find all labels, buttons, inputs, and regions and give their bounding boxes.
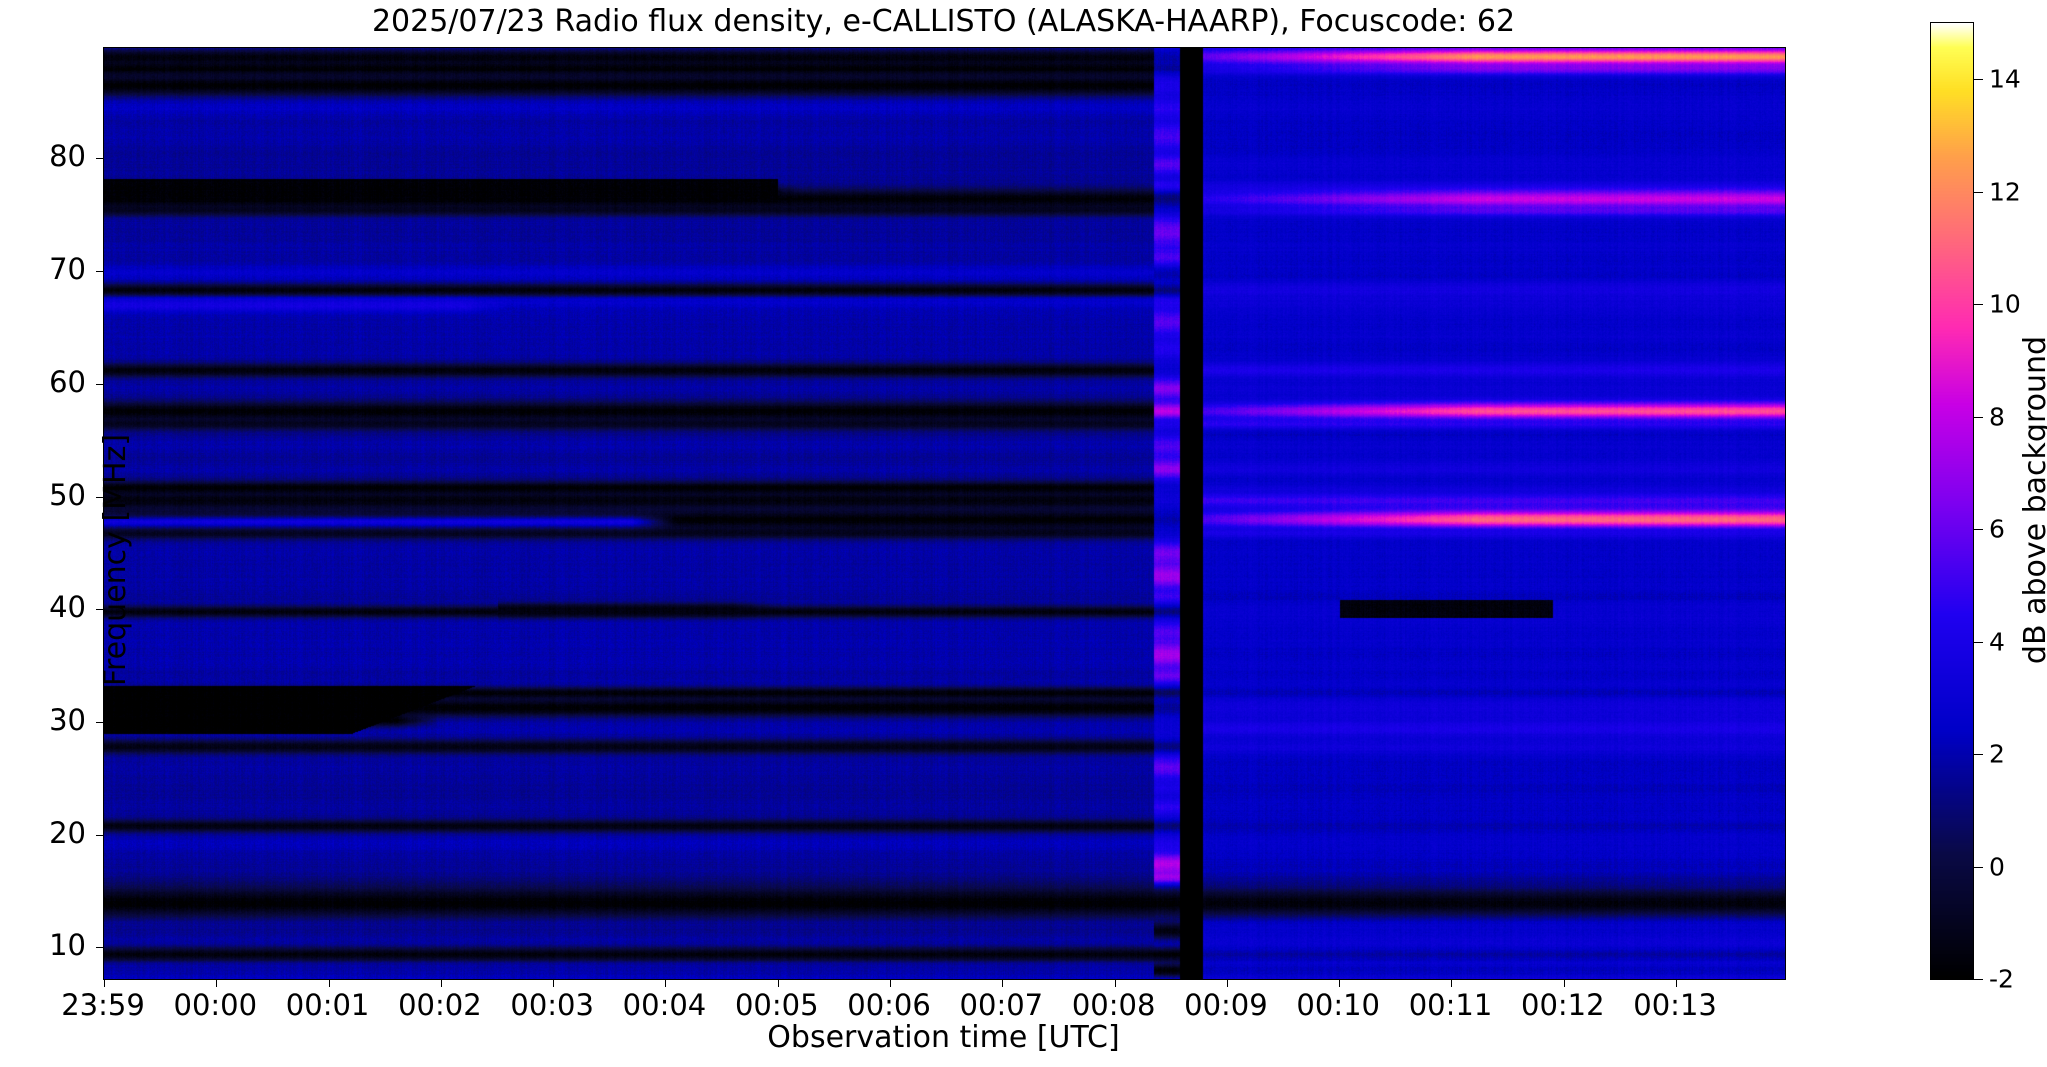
x-axis-tick xyxy=(665,979,666,987)
x-axis-tick-label: 00:08 xyxy=(1072,988,1156,1022)
colorbar-tick-label: 2 xyxy=(1989,740,2005,769)
x-axis-tick xyxy=(778,979,779,987)
x-axis-tick-label: 00:07 xyxy=(960,988,1044,1022)
spectrogram-image xyxy=(104,48,1785,979)
x-axis-tick-label: 23:59 xyxy=(61,988,145,1022)
y-axis-tick-label: 30 xyxy=(2,703,86,737)
x-axis-tick xyxy=(1564,979,1565,987)
colorbar[interactable]: -202468101214 xyxy=(1930,22,1974,980)
y-axis-tick-label: 70 xyxy=(2,252,86,286)
x-axis-tick-label: 00:10 xyxy=(1296,988,1380,1022)
y-axis-label: Frequency [MHz] xyxy=(98,434,133,686)
y-axis-tick xyxy=(96,158,104,159)
y-axis-tick-label: 40 xyxy=(2,590,86,624)
colorbar-tick-label: 12 xyxy=(1989,177,2021,206)
figure-canvas: 2025/07/23 Radio flux density, e-CALLIST… xyxy=(0,0,2047,1067)
y-axis-tick xyxy=(96,722,104,723)
x-axis-tick-label: 00:09 xyxy=(1184,988,1268,1022)
colorbar-tick xyxy=(1974,79,1983,80)
x-axis-tick xyxy=(1115,979,1116,987)
colorbar-tick xyxy=(1974,642,1983,643)
x-axis-tick xyxy=(890,979,891,987)
y-axis-tick xyxy=(96,947,104,948)
x-axis-tick-label: 00:03 xyxy=(510,988,594,1022)
colorbar-tick xyxy=(1974,417,1983,418)
y-axis-tick xyxy=(96,271,104,272)
y-axis-tick xyxy=(96,497,104,498)
colorbar-label: dB above background xyxy=(2018,336,2047,664)
y-axis-tick-label: 50 xyxy=(2,478,86,512)
x-axis-tick-label: 00:00 xyxy=(173,988,257,1022)
colorbar-tick xyxy=(1974,529,1983,530)
x-axis-tick xyxy=(216,979,217,987)
colorbar-tick-label: 4 xyxy=(1989,627,2005,656)
x-axis-tick xyxy=(1451,979,1452,987)
x-axis-tick-label: 00:12 xyxy=(1521,988,1605,1022)
page-title: 2025/07/23 Radio flux density, e-CALLIST… xyxy=(103,4,1784,39)
colorbar-tick xyxy=(1974,304,1983,305)
x-axis-tick-label: 00:06 xyxy=(847,988,931,1022)
x-axis-tick xyxy=(1227,979,1228,987)
y-axis-tick-label: 80 xyxy=(2,139,86,173)
x-axis-tick xyxy=(1002,979,1003,987)
colorbar-tick-label: 14 xyxy=(1989,65,2021,94)
x-axis-tick xyxy=(553,979,554,987)
x-axis-tick xyxy=(1676,979,1677,987)
x-axis-tick-label: 00:04 xyxy=(623,988,707,1022)
y-axis-tick-label: 60 xyxy=(2,365,86,399)
y-axis-tick xyxy=(96,609,104,610)
colorbar-tick-label: -2 xyxy=(1989,965,2014,994)
y-axis-tick-label: 10 xyxy=(2,928,86,962)
spectrogram-axes[interactable]: Frequency [MHz] 8070605040302010 xyxy=(103,47,1786,980)
x-axis-tick xyxy=(329,979,330,987)
x-axis-tick-label: 00:02 xyxy=(398,988,482,1022)
y-axis-tick xyxy=(96,835,104,836)
colorbar-tick-label: 8 xyxy=(1989,402,2005,431)
x-axis-tick xyxy=(1339,979,1340,987)
colorbar-tick xyxy=(1974,979,1983,980)
colorbar-gradient xyxy=(1931,23,1973,979)
colorbar-tick xyxy=(1974,192,1983,193)
x-axis-label: Observation time [UTC] xyxy=(103,1020,1784,1055)
x-axis-tick-label: 00:13 xyxy=(1633,988,1717,1022)
x-axis-tick xyxy=(441,979,442,987)
colorbar-tick-label: 0 xyxy=(1989,852,2005,881)
y-axis-tick-label: 20 xyxy=(2,816,86,850)
colorbar-tick xyxy=(1974,867,1983,868)
colorbar-tick xyxy=(1974,754,1983,755)
x-axis-tick-label: 00:01 xyxy=(286,988,370,1022)
colorbar-tick-label: 10 xyxy=(1989,290,2021,319)
x-axis-tick xyxy=(104,979,105,987)
y-axis-tick xyxy=(96,384,104,385)
x-axis-tick-label: 00:05 xyxy=(735,988,819,1022)
x-axis-tick-label: 00:11 xyxy=(1409,988,1493,1022)
colorbar-tick-label: 6 xyxy=(1989,515,2005,544)
